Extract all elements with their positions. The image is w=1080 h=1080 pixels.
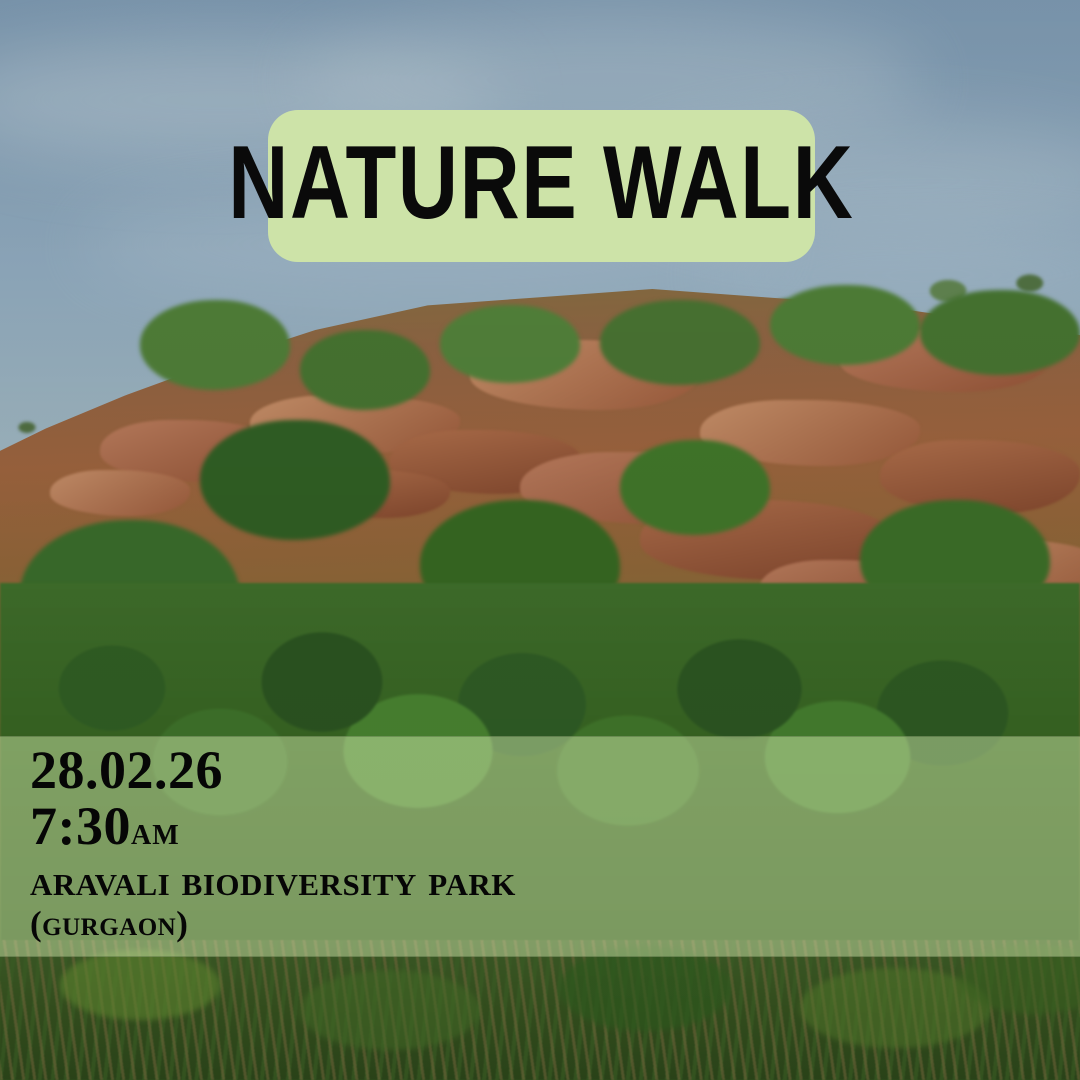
band-bottom-divider bbox=[0, 956, 1080, 957]
page-title: NATURE WALK bbox=[228, 131, 854, 241]
event-details-band: 28.02.26 7:30AM ARAVALI BIODIVERSITY PAR… bbox=[0, 736, 1080, 957]
event-date: 28.02.26 bbox=[30, 742, 516, 798]
event-time: 7:30AM bbox=[30, 798, 516, 854]
title-banner: NATURE WALK bbox=[268, 110, 815, 262]
event-city: (GURGAON) bbox=[30, 905, 516, 942]
event-time-meridiem: AM bbox=[131, 808, 180, 853]
band-top-divider bbox=[0, 736, 1080, 737]
nature-walk-poster: NATURE WALK 28.02.26 7:30AM ARAVALI BIOD… bbox=[0, 0, 1080, 1080]
event-details-text: 28.02.26 7:30AM ARAVALI BIODIVERSITY PAR… bbox=[30, 742, 516, 942]
event-location: ARAVALI BIODIVERSITY PARK bbox=[30, 858, 516, 905]
event-time-value: 7:30 bbox=[30, 796, 131, 856]
